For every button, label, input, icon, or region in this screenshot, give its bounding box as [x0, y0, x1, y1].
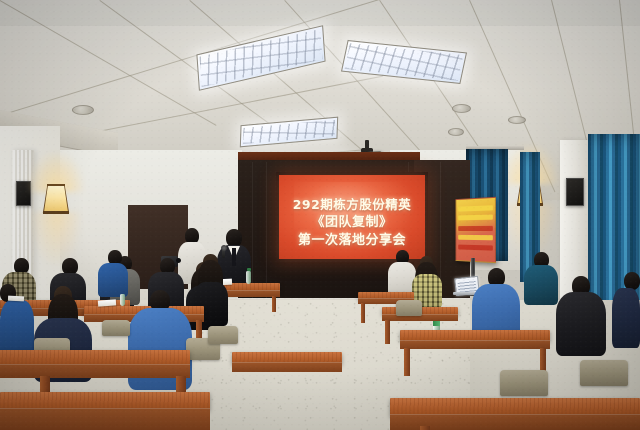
backdrop-fold: [266, 162, 267, 302]
ceiling-speaker: [448, 128, 464, 136]
ceiling-speaker: [452, 104, 471, 113]
roll-up-banner[interactable]: [456, 197, 496, 263]
microphone-head: [221, 245, 227, 251]
desk-apron: [400, 340, 550, 349]
desk-apron: [0, 408, 210, 430]
paper-documents[interactable]: [98, 299, 116, 306]
screen-title-line-3: 第一次落地分享会: [279, 229, 425, 248]
camera-lens: [176, 258, 181, 263]
chair-back: [396, 300, 422, 316]
person-torso: [524, 265, 558, 305]
screen-title-line-2: 《团队复制》: [279, 211, 425, 230]
bottle-cap: [247, 268, 251, 271]
conference-room-photo: 292期栋方股份精英 《团队复制》 第一次落地分享会: [0, 0, 640, 430]
desk-leg: [361, 303, 365, 323]
desk-leg: [420, 426, 430, 430]
banner-text-row: [459, 205, 493, 211]
sconce-shade: [44, 186, 68, 212]
sconce-frame: [43, 211, 69, 214]
water-bottle[interactable]: [246, 271, 251, 284]
chair-back: [102, 320, 130, 336]
necktie: [232, 248, 236, 266]
desk-leg: [385, 320, 390, 344]
laptop-screen-content: [457, 279, 476, 293]
ceiling-speaker: [72, 105, 94, 115]
chair-back: [580, 360, 628, 386]
banner-text-row: [459, 226, 493, 231]
ceiling-light-panel: [240, 117, 338, 148]
ceiling-tile-shadow: [0, 0, 640, 26]
ceiling-speaker: [508, 116, 526, 124]
paper-documents[interactable]: [8, 296, 24, 302]
backdrop-fold: [440, 162, 441, 298]
backdrop-fold: [252, 162, 253, 302]
sconce-downward-glow: [31, 212, 81, 264]
ceiling-light-panel: [341, 40, 467, 84]
desk-leg: [404, 348, 410, 376]
banner-text-row: [459, 215, 493, 221]
person-torso: [612, 288, 640, 348]
desk-apron: [0, 364, 190, 378]
person-torso: [556, 292, 606, 356]
desk-apron: [232, 362, 342, 372]
banner-text-row: [459, 235, 493, 240]
banner-text-row: [459, 245, 493, 251]
water-bottle[interactable]: [120, 294, 125, 306]
chair-back: [500, 370, 548, 396]
wall-speaker-right: [566, 178, 584, 206]
chair-back: [208, 326, 238, 344]
table-leg: [272, 296, 276, 312]
projection-screen[interactable]: 292期栋方股份精英 《团队复制》 第一次落地分享会: [279, 175, 425, 259]
person-torso: [98, 263, 128, 297]
